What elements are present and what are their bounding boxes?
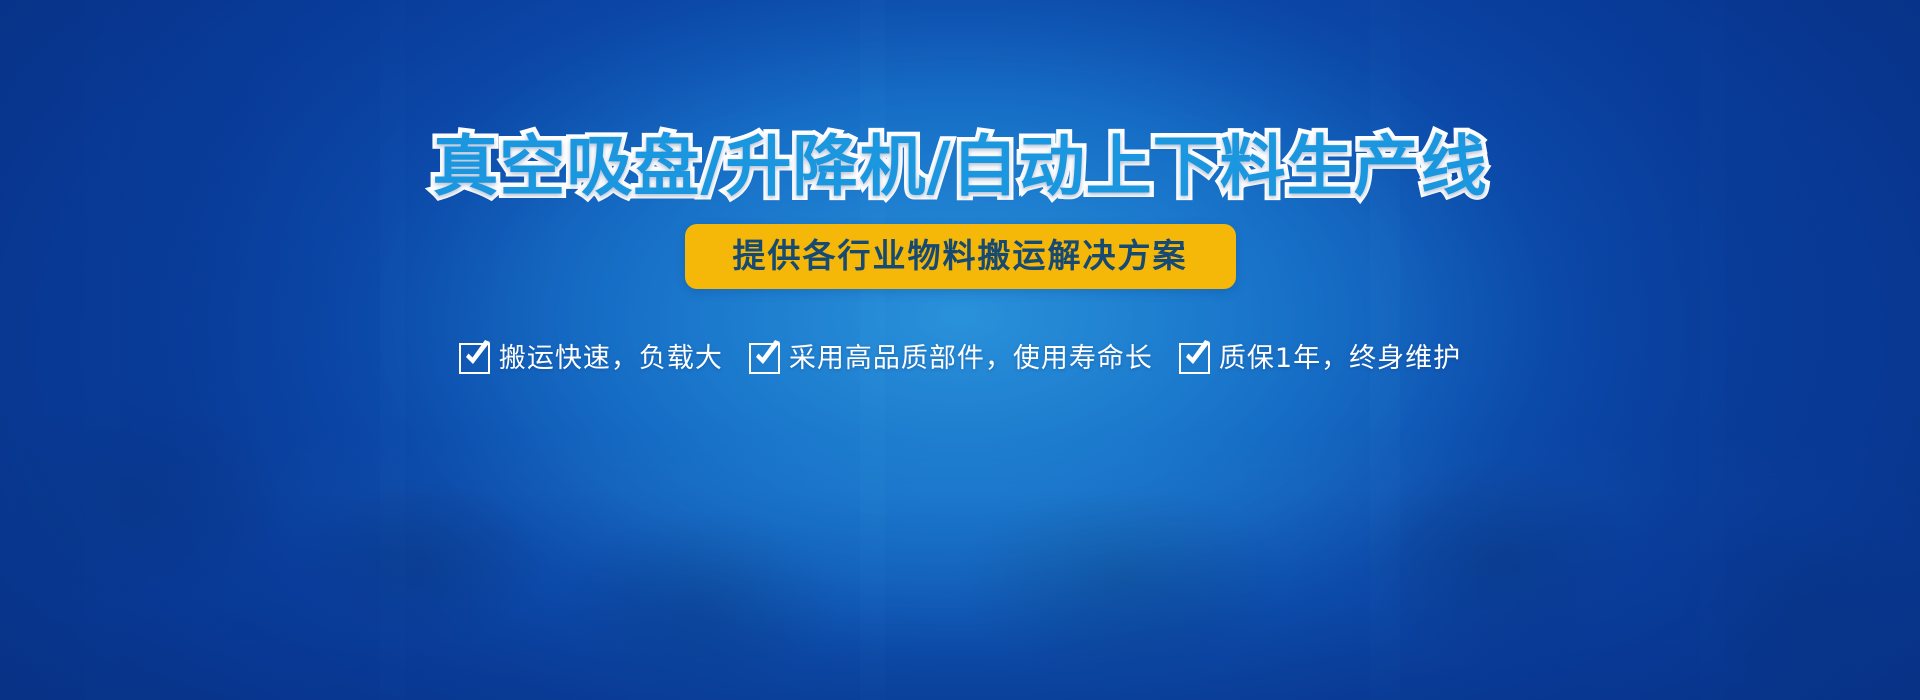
check-icon bbox=[459, 343, 490, 374]
banner-title: 真空吸盘/升降机/自动上下料生产线 bbox=[432, 132, 1487, 202]
feature-item: 质保1年，终身维护 bbox=[1179, 343, 1461, 374]
feature-label: 采用高品质部件，使用寿命长 bbox=[789, 345, 1153, 372]
feature-list: 搬运快速，负载大 采用高品质部件，使用寿命长 质保1年，终身维护 bbox=[459, 343, 1461, 374]
feature-label: 质保1年，终身维护 bbox=[1219, 345, 1461, 372]
check-icon bbox=[1179, 343, 1210, 374]
feature-label: 搬运快速，负载大 bbox=[499, 345, 723, 372]
banner-content: 真空吸盘/升降机/自动上下料生产线 提供各行业物料搬运解决方案 搬运快速，负载大… bbox=[0, 0, 1920, 700]
feature-item: 搬运快速，负载大 bbox=[459, 343, 723, 374]
banner-subtitle-badge: 提供各行业物料搬运解决方案 bbox=[685, 224, 1236, 289]
hero-banner: 真空吸盘/升降机/自动上下料生产线 提供各行业物料搬运解决方案 搬运快速，负载大… bbox=[0, 0, 1920, 700]
feature-item: 采用高品质部件，使用寿命长 bbox=[749, 343, 1153, 374]
check-icon bbox=[749, 343, 780, 374]
